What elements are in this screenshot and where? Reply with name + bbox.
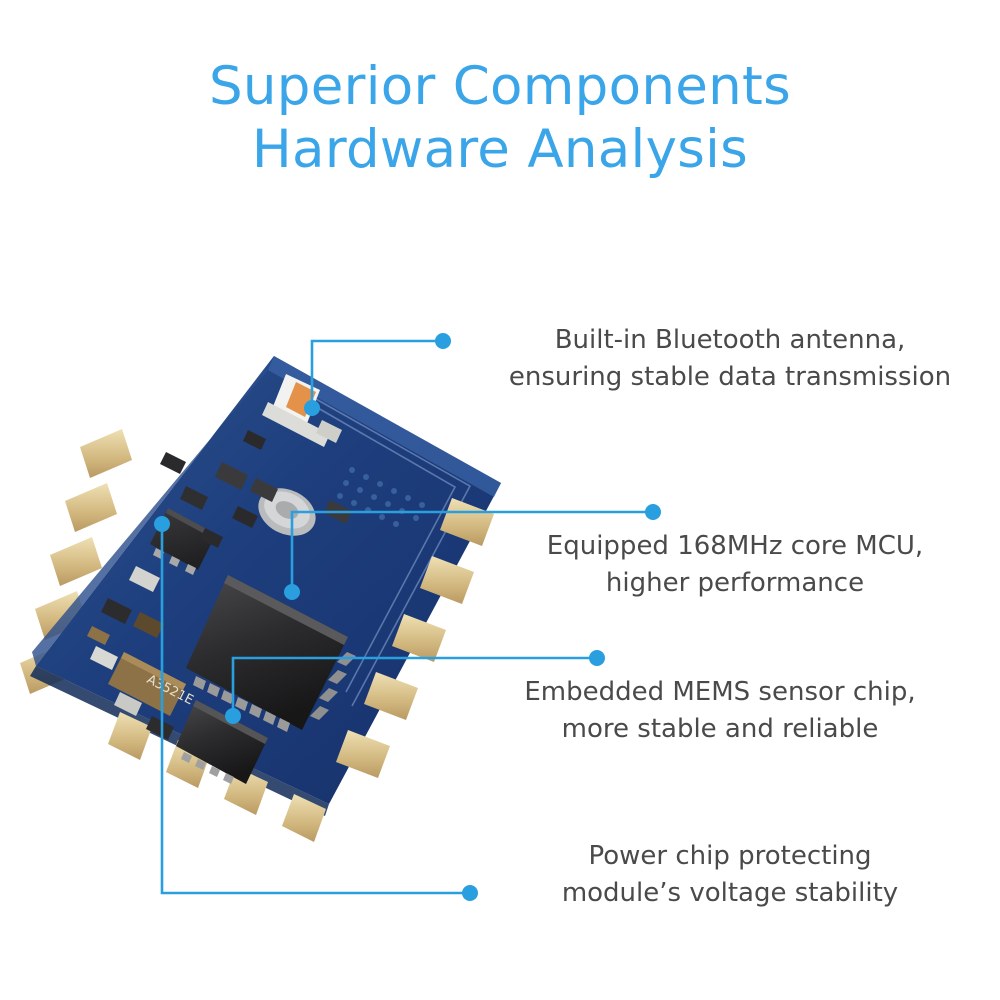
leader-dot-power-end [462, 885, 478, 901]
leader-dot-mems-anchor [225, 708, 241, 724]
leader-dot-power-anchor [154, 516, 170, 532]
callout-power-line-2: module’s voltage stability [480, 875, 980, 912]
callout-mcu-line-1: Equipped 168MHz core MCU, [480, 528, 990, 565]
callout-power-chip: Power chip protecting module’s voltage s… [480, 838, 980, 912]
leader-dot-mems-end [589, 650, 605, 666]
leader-dot-mcu-anchor [284, 584, 300, 600]
callout-mems-sensor: Embedded MEMS sensor chip, more stable a… [460, 674, 980, 748]
callout-power-line-1: Power chip protecting [480, 838, 980, 875]
callout-bluetooth-antenna: Built-in Bluetooth antenna, ensuring sta… [480, 322, 980, 396]
leader-dot-bluetooth-end [435, 333, 451, 349]
callout-bluetooth-line-2: ensuring stable data transmission [480, 359, 980, 396]
callout-bluetooth-line-1: Built-in Bluetooth antenna, [480, 322, 980, 359]
callout-mcu-core: Equipped 168MHz core MCU, higher perform… [480, 528, 990, 602]
leader-line-power [162, 524, 470, 893]
callout-mems-line-2: more stable and reliable [460, 711, 980, 748]
leader-dot-bluetooth-anchor [304, 400, 320, 416]
callout-mems-line-1: Embedded MEMS sensor chip, [460, 674, 980, 711]
leader-dot-mcu-end [645, 504, 661, 520]
leader-line-bluetooth [312, 341, 443, 408]
hardware-analysis-infographic: Superior Components Hardware Analysis [0, 0, 1000, 1000]
callout-mcu-line-2: higher performance [480, 565, 990, 602]
